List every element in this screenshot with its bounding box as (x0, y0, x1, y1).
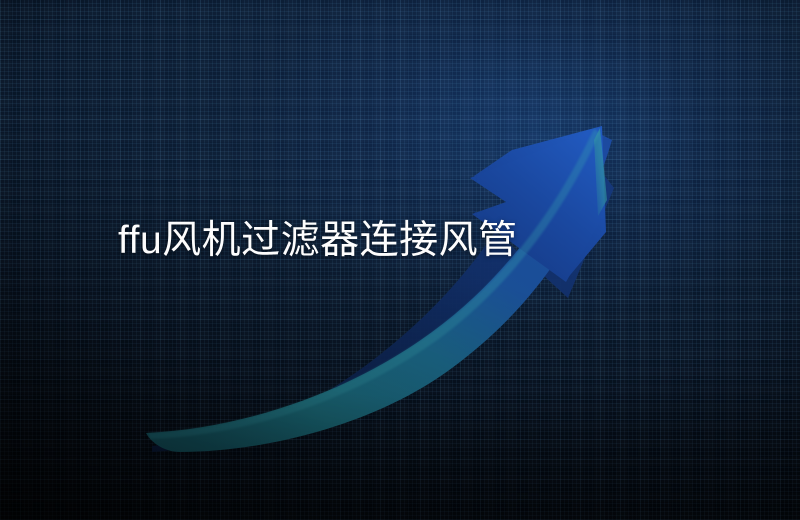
banner-title: ffu风机过滤器连接风管 (118, 219, 518, 263)
banner-image: ffu风机过滤器连接风管 (0, 0, 800, 520)
